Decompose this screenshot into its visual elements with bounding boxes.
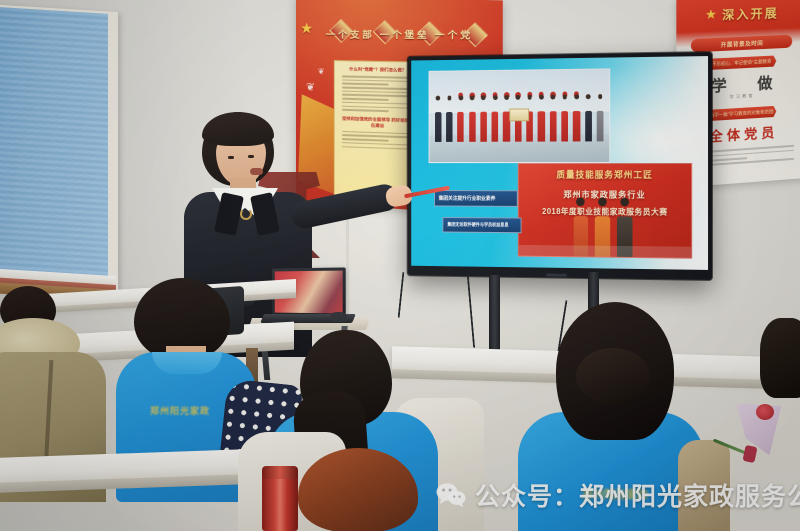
instructor-eye-left <box>228 156 234 159</box>
poster-right-header: ★ 深入开展 <box>676 0 800 32</box>
mouse[interactable] <box>330 312 347 322</box>
slide-group-photo <box>428 68 610 163</box>
slide-label-2: 集团无论软件硬件与学员权益息息 <box>443 217 521 233</box>
window-blind <box>0 6 108 282</box>
vest-logo-text: 郑州阳光家政 <box>132 404 228 426</box>
dove-icon-small: ❦ <box>318 67 325 76</box>
certificate-prop <box>509 109 529 122</box>
slide-award-banner: 质量技能服务郑州工匠 郑州市家政服务行业 2018年度职业技能家政服务员大赛 <box>518 163 692 259</box>
attendee-partial-right <box>760 318 800 398</box>
poster-banner-text: 一个支部 一个堡垒 一个党 <box>326 27 473 42</box>
poster-tag-2: “两学一做”学习教育的对象和范围 <box>705 106 776 121</box>
rose-bloom <box>756 404 774 420</box>
poster-right-banner-text: 深入开展 <box>722 4 779 23</box>
poster-panel-title: 什么叫“党建”？我们怎么做？ <box>340 66 416 74</box>
tv-screen: 质量技能服务郑州工匠 郑州市家政服务行业 2018年度职业技能家政服务员大赛 集… <box>411 56 708 270</box>
poster-tag-1: “不忘初心、牢记使命”主题教育 <box>705 55 776 70</box>
dove-icon: ❦ <box>306 80 315 93</box>
thermos-cap[interactable] <box>262 466 298 479</box>
tv-power-led <box>546 274 567 277</box>
wechat-icon <box>436 482 466 508</box>
poster-banner: 一个支部 一个堡垒 一个党 <box>302 21 499 48</box>
photo-scene: ★ 一个支部 一个堡垒 一个党 ❦ ❦ 什么叫“党建”？我们怎么做？ 坚持和加强… <box>0 0 800 531</box>
red-thermos[interactable] <box>262 470 298 531</box>
party-emblem-icon-right: ★ <box>705 6 717 23</box>
watermark: 公众号：郑州阳光家政服务公司 <box>436 477 800 513</box>
instructor-mouth <box>250 168 263 175</box>
poster-section-label: 开展背景及时间 <box>691 35 792 53</box>
necklace <box>240 208 252 220</box>
vest-collar <box>152 352 222 374</box>
watermark-text: 公众号：郑州阳光家政服务公司 <box>475 477 800 513</box>
slide-label-1: 集团关注提升行业职业素养 <box>434 190 518 207</box>
attendee-hair-bun <box>576 348 650 404</box>
presentation-display[interactable]: 质量技能服务郑州工匠 郑州市家政服务行业 2018年度职业技能家政服务员大赛 集… <box>408 52 712 280</box>
banner-line-1: 质量技能服务郑州工匠 <box>524 168 686 181</box>
instructor-hair-front <box>202 112 274 146</box>
instructor-eye-right <box>248 155 254 158</box>
